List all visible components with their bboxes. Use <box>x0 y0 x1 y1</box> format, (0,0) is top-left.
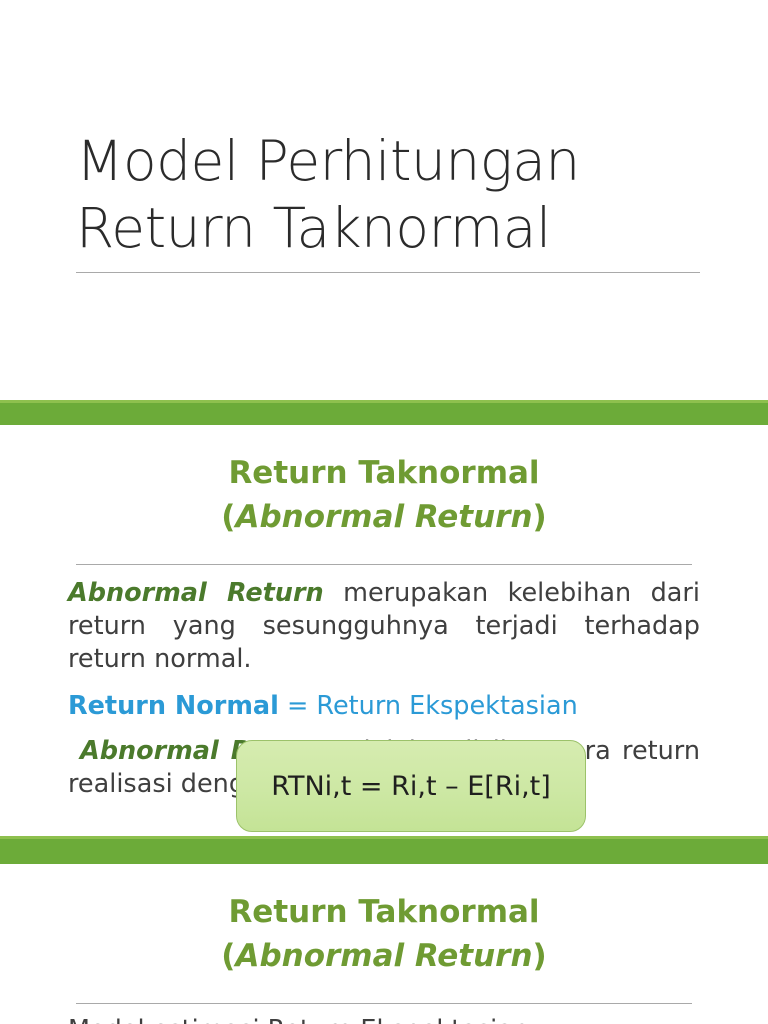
definition-term: Abnormal Return <box>68 578 324 608</box>
estimation-model-text: Model estimasi Return Ekspektasian <box>68 1014 700 1024</box>
estimation-model-slide: Return Taknormal (Abnormal Return) Model… <box>0 864 768 1024</box>
section-heading-2-line-1: Return Taknormal <box>0 890 768 934</box>
slide-deck: Model Perhitungan Return Taknormal Retur… <box>0 0 768 1024</box>
paren-open: ( <box>221 499 235 535</box>
title-slide: Model Perhitungan Return Taknormal <box>0 0 768 400</box>
section-heading: Return Taknormal (Abnormal Return) <box>0 451 768 539</box>
section-heading-2-divider <box>76 1003 692 1004</box>
title-line-2: Return Taknormal <box>76 195 700 262</box>
section-heading-line-2: (Abnormal Return) <box>0 495 768 539</box>
section-heading-2: Return Taknormal (Abnormal Return) <box>0 890 768 978</box>
formula-callout: RTNi,t = Ri,t – E[Ri,t] <box>236 740 586 832</box>
equation-paragraph: Return Normal = Return Ekspektasian <box>68 690 700 723</box>
section-heading-2-italic: Abnormal Return <box>235 938 532 974</box>
equation-right-term: Return Ekspektasian <box>316 691 577 721</box>
page-title: Model Perhitungan Return Taknormal <box>76 128 700 262</box>
section-band-bottom <box>0 836 768 864</box>
paren-close: ) <box>533 499 547 535</box>
equation-left-term: Return Normal <box>68 691 279 721</box>
section-heading-divider <box>76 564 692 565</box>
definition-paragraph: Abnormal Return merupakan kelebihan dari… <box>68 577 700 676</box>
formula-text: RTNi,t = Ri,t – E[Ri,t] <box>271 768 551 805</box>
equation-operator: = <box>279 691 317 721</box>
title-divider <box>76 272 700 273</box>
section-heading-2-line-2: (Abnormal Return) <box>0 934 768 978</box>
section-heading-line-1: Return Taknormal <box>0 451 768 495</box>
title-line-1: Model Perhitungan <box>76 128 700 195</box>
section-heading-italic: Abnormal Return <box>235 499 532 535</box>
paren-open-2: ( <box>221 938 235 974</box>
section-band-top <box>0 400 768 428</box>
paren-close-2: ) <box>533 938 547 974</box>
